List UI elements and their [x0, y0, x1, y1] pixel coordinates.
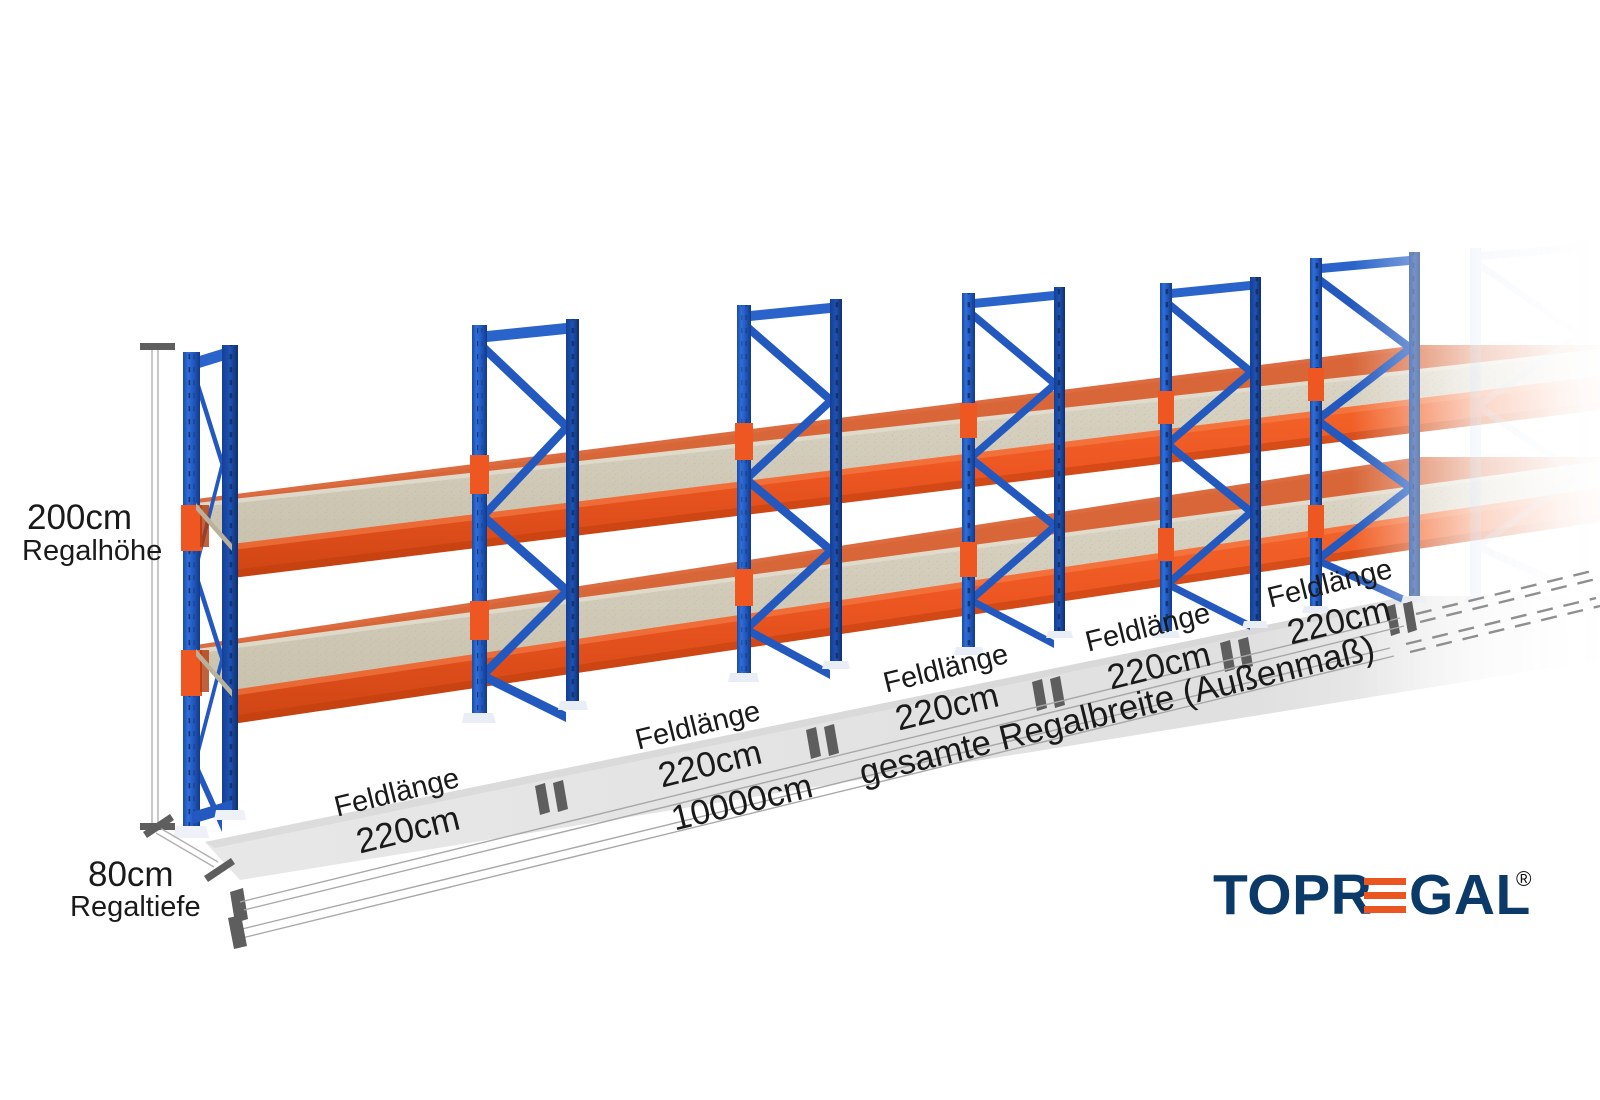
logo-text-after: GAL [1409, 864, 1531, 926]
product-diagram [0, 0, 1600, 1100]
depth-label: Regaltiefe [70, 891, 201, 923]
height-label: Regalhöhe [22, 535, 162, 567]
rack-frame-1 [173, 345, 246, 838]
dimension-height-cap-top [140, 343, 175, 350]
height-value: 200cm [27, 498, 132, 537]
dimension-height [152, 348, 158, 826]
logo-text-before: TOPR [1213, 864, 1372, 926]
depth-value: 80cm [88, 855, 174, 894]
registered-trademark-icon: ® [1516, 868, 1531, 892]
logo-e-bars-icon [1364, 878, 1406, 913]
topregal-logo: TOPR GAL ® [1213, 864, 1553, 926]
